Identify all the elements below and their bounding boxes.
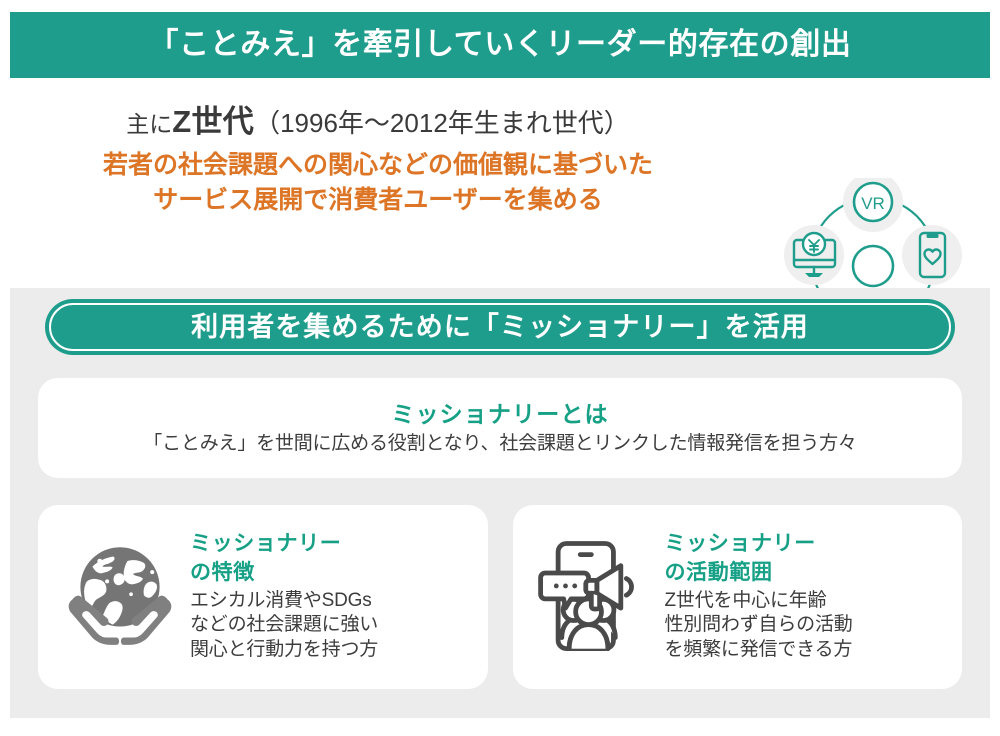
card-heading-line1: ミッショナリー — [665, 531, 949, 557]
card-text-characteristics: ミッショナリー の特徴 エシカル消費やSDGs などの社会課題に強い 関心と行動… — [184, 531, 474, 662]
intro-orange-line-1: 若者の社会課題への関心などの価値観に基づいた — [28, 148, 728, 183]
missionary-cards-row: ミッショナリー の特徴 エシカル消費やSDGs などの社会課題に強い 関心と行動… — [38, 505, 962, 689]
page-title: 「ことみえ」を牽引していくリーダー的存在の創出 — [149, 30, 852, 60]
intro-emphasis: Z世代 — [172, 104, 254, 139]
card-body-line2: 性別問わず自らの活動 — [665, 613, 949, 638]
card-heading-line2: の活動範囲 — [665, 560, 949, 586]
intro-section: 主にZ世代（1996年～2012年生まれ世代） 若者の社会課題への関心などの価値… — [0, 86, 1000, 286]
globe-in-hands-icon — [56, 532, 184, 662]
definition-card: ミッショナリーとは 「ことみえ」を世間に広める役割となり、社会課題とリンクした情… — [38, 378, 962, 478]
card-body-line3: を頻繁に発信できる方 — [665, 638, 949, 663]
pill-banner: 利用者を集めるために「ミッショナリー」を活用 — [45, 299, 955, 355]
card-body-line1: Z世代を中心に年齢 — [665, 589, 949, 614]
card-body-line1: エシカル消費やSDGs — [190, 589, 474, 614]
pill-banner-title: 利用者を集めるために「ミッショナリー」を活用 — [191, 314, 809, 341]
target-generation-line: 主にZ世代（1996年～2012年生まれ世代） — [28, 102, 728, 142]
intro-orange-line-2: サービス展開で消費者ユーザーを集める — [28, 183, 728, 218]
card-heading-line1: ミッショナリー — [190, 531, 474, 557]
card-missionary-activity-scope: ミッショナリー の活動範囲 Z世代を中心に年齢 性別問わず自らの活動 を頻繁に発… — [513, 505, 963, 689]
smartphone-megaphone-people-icon — [531, 532, 659, 662]
definition-heading: ミッショナリーとは — [391, 403, 608, 426]
card-text-activity-scope: ミッショナリー の活動範囲 Z世代を中心に年齢 性別問わず自らの活動 を頻繁に発… — [659, 531, 949, 662]
svg-text:VR: VR — [861, 194, 885, 213]
intro-text-block: 主にZ世代（1996年～2012年生まれ世代） 若者の社会課題への関心などの価値… — [28, 102, 728, 217]
card-heading-line2: の特徴 — [190, 560, 474, 586]
intro-paren: （1996年～2012年生まれ世代） — [254, 108, 630, 138]
vr-badge-icon: VR — [854, 183, 892, 221]
intro-prefix: 主に — [126, 111, 172, 137]
definition-body: 「ことみえ」を世間に広める役割となり、社会課題とリンクした情報発信を担う方々 — [143, 434, 856, 453]
card-body-line3: 関心と行動力を持つ方 — [190, 638, 474, 663]
speech-bubble-dots — [553, 584, 576, 589]
top-banner: 「ことみえ」を牽引していくリーダー的存在の創出 — [10, 12, 990, 78]
card-body-line2: などの社会課題に強い — [190, 613, 474, 638]
card-missionary-characteristics: ミッショナリー の特徴 エシカル消費やSDGs などの社会課題に強い 関心と行動… — [38, 505, 488, 689]
slide-root: 「ことみえ」を牽引していくリーダー的存在の創出 主にZ世代（1996年～2012… — [0, 0, 1000, 736]
